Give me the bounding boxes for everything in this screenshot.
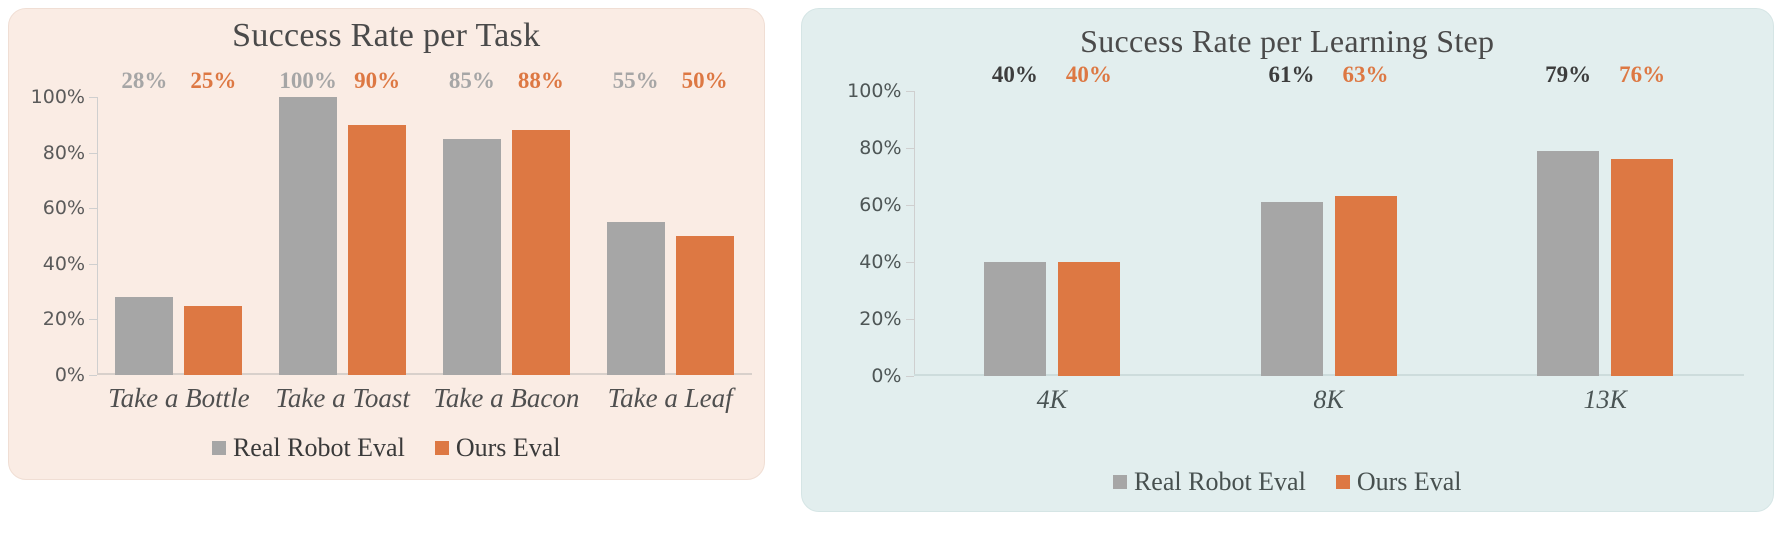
y-axis-label-80: 80% <box>43 142 85 164</box>
bar-real-4k[interactable] <box>984 262 1046 376</box>
y-tick-60-right <box>906 205 914 206</box>
legend-item-ours-eval-right[interactable]: Ours Eval <box>1336 467 1462 497</box>
y-axis-label-100-right: 100% <box>847 80 901 102</box>
bar-wrap-ours-0: 25% <box>184 97 242 375</box>
x-axis-label-3: Take a Leaf <box>588 383 752 414</box>
legend-left: Real Robot Eval Ours Eval <box>9 433 764 463</box>
x-axis-label-1: Take a Toast <box>261 383 425 414</box>
chart-panel-success-rate-per-task: Success Rate per Task 100% 80% 60% 40% 2… <box>8 8 765 480</box>
bar-group-take-a-bottle: 28% 25% <box>97 97 261 375</box>
bar-value-label-ours-8k: 63% <box>1343 62 1389 88</box>
page-title-right: Success Rate per Learning Step <box>802 23 1774 60</box>
bar-group-take-a-leaf: 55% 50% <box>588 97 752 375</box>
bar-wrap-ours-4k: 40% <box>1058 91 1120 376</box>
bar-value-label-ours-4k: 40% <box>1066 62 1112 88</box>
legend-item-real-robot-eval-right[interactable]: Real Robot Eval <box>1113 467 1306 497</box>
y-axis-label-60-right: 60% <box>859 194 901 216</box>
legend-swatch-icon-ours-right <box>1336 475 1350 489</box>
legend-item-real-robot-eval[interactable]: Real Robot Eval <box>212 433 405 463</box>
y-axis-label-80-right: 80% <box>859 137 901 159</box>
legend-label-ours-right: Ours Eval <box>1357 467 1462 497</box>
legend-swatch-icon-ours <box>435 441 449 455</box>
x-axis-label-8k: 8K <box>1190 385 1467 415</box>
bar-value-label-real-1: 100% <box>279 68 337 94</box>
bar-value-label-real-2: 85% <box>449 68 495 94</box>
bar-value-label-real-0: 28% <box>121 68 167 94</box>
bar-wrap-ours-2: 88% <box>512 97 570 375</box>
bar-value-label-real-13k: 79% <box>1545 62 1591 88</box>
bar-ours-take-a-leaf[interactable] <box>676 236 734 375</box>
y-tick-100-right <box>906 91 914 92</box>
bar-wrap-real-4k: 40% <box>984 91 1046 376</box>
x-axis-label-0: Take a Bottle <box>97 383 261 414</box>
bar-wrap-ours-3: 50% <box>676 97 734 375</box>
bar-real-take-a-bacon[interactable] <box>443 139 501 375</box>
bar-ours-8k[interactable] <box>1335 196 1397 376</box>
y-tick-40-right <box>906 262 914 263</box>
bar-ours-take-a-bottle[interactable] <box>184 306 242 376</box>
x-axis-label-2: Take a Bacon <box>425 383 589 414</box>
bar-value-label-ours-0: 25% <box>190 68 236 94</box>
legend-item-ours-eval[interactable]: Ours Eval <box>435 433 561 463</box>
bar-group-take-a-bacon: 85% 88% <box>425 97 589 375</box>
bar-real-8k[interactable] <box>1261 202 1323 376</box>
bar-ours-take-a-toast[interactable] <box>348 125 406 375</box>
bar-ours-4k[interactable] <box>1058 262 1120 376</box>
y-tick-80-right <box>906 148 914 149</box>
y-tick-100 <box>89 97 97 98</box>
y-tick-0 <box>89 375 97 376</box>
y-axis-label-60: 60% <box>43 197 85 219</box>
bar-value-label-ours-2: 88% <box>518 68 564 94</box>
y-tick-40 <box>89 264 97 265</box>
y-axis-label-20-right: 20% <box>859 308 901 330</box>
bar-group-take-a-toast: 100% 90% <box>261 97 425 375</box>
bar-value-label-ours-1: 90% <box>354 68 400 94</box>
y-axis-label-40: 40% <box>43 253 85 275</box>
bar-wrap-ours-13k: 76% <box>1611 91 1673 376</box>
bar-value-label-ours-13k: 76% <box>1619 62 1665 88</box>
y-axis-label-0: 0% <box>55 364 85 386</box>
legend-right: Real Robot Eval Ours Eval <box>802 467 1774 497</box>
plot-area-right: 100% 80% 60% 40% 20% 0% 40% 40% <box>914 91 1744 376</box>
plot-area-left: 100% 80% 60% 40% 20% 0% 28% 25% <box>97 97 752 375</box>
bar-real-take-a-toast[interactable] <box>279 97 337 375</box>
y-axis-label-20: 20% <box>43 308 85 330</box>
x-axis-labels-right: 4K 8K 13K <box>914 385 1744 415</box>
legend-label-real: Real Robot Eval <box>233 433 405 463</box>
bar-wrap-ours-8k: 63% <box>1335 91 1397 376</box>
bar-value-label-real-3: 55% <box>613 68 659 94</box>
bar-real-take-a-leaf[interactable] <box>607 222 665 375</box>
x-axis-label-4k: 4K <box>914 385 1191 415</box>
bar-value-label-ours-3: 50% <box>682 68 728 94</box>
bar-ours-13k[interactable] <box>1611 159 1673 376</box>
bar-groups-left: 28% 25% 100% 90% <box>97 97 752 375</box>
figure-root: Success Rate per Task 100% 80% 60% 40% 2… <box>0 0 1774 550</box>
y-tick-20 <box>89 319 97 320</box>
y-axis-label-0-right: 0% <box>871 365 901 387</box>
bar-wrap-real-1: 100% <box>279 97 337 375</box>
bar-value-label-real-4k: 40% <box>992 62 1038 88</box>
y-tick-80 <box>89 153 97 154</box>
y-tick-0-right <box>906 376 914 377</box>
x-axis-label-13k: 13K <box>1467 385 1744 415</box>
bar-group-13k: 79% 76% <box>1467 91 1744 376</box>
bar-wrap-real-13k: 79% <box>1537 91 1599 376</box>
bar-real-13k[interactable] <box>1537 151 1599 376</box>
bar-wrap-real-8k: 61% <box>1261 91 1323 376</box>
y-axis-label-40-right: 40% <box>859 251 901 273</box>
y-axis-label-100: 100% <box>31 86 85 108</box>
bar-wrap-real-2: 85% <box>443 97 501 375</box>
bar-group-8k: 61% 63% <box>1190 91 1467 376</box>
x-axis-labels-left: Take a Bottle Take a Toast Take a Bacon … <box>97 383 752 414</box>
bar-real-take-a-bottle[interactable] <box>115 297 173 375</box>
legend-swatch-icon-real-right <box>1113 475 1127 489</box>
chart-panel-success-rate-per-learning-step: Success Rate per Learning Step 100% 80% … <box>801 8 1774 512</box>
bar-ours-take-a-bacon[interactable] <box>512 130 570 375</box>
legend-label-real-right: Real Robot Eval <box>1134 467 1306 497</box>
bar-wrap-ours-1: 90% <box>348 97 406 375</box>
bar-wrap-real-0: 28% <box>115 97 173 375</box>
bar-groups-right: 40% 40% 61% 63% <box>914 91 1744 376</box>
bar-group-4k: 40% 40% <box>914 91 1191 376</box>
y-tick-60 <box>89 208 97 209</box>
bar-wrap-real-3: 55% <box>607 97 665 375</box>
bar-value-label-real-8k: 61% <box>1269 62 1315 88</box>
legend-swatch-icon-real <box>212 441 226 455</box>
page-title: Success Rate per Task <box>9 17 764 55</box>
y-tick-20-right <box>906 319 914 320</box>
legend-label-ours: Ours Eval <box>456 433 561 463</box>
